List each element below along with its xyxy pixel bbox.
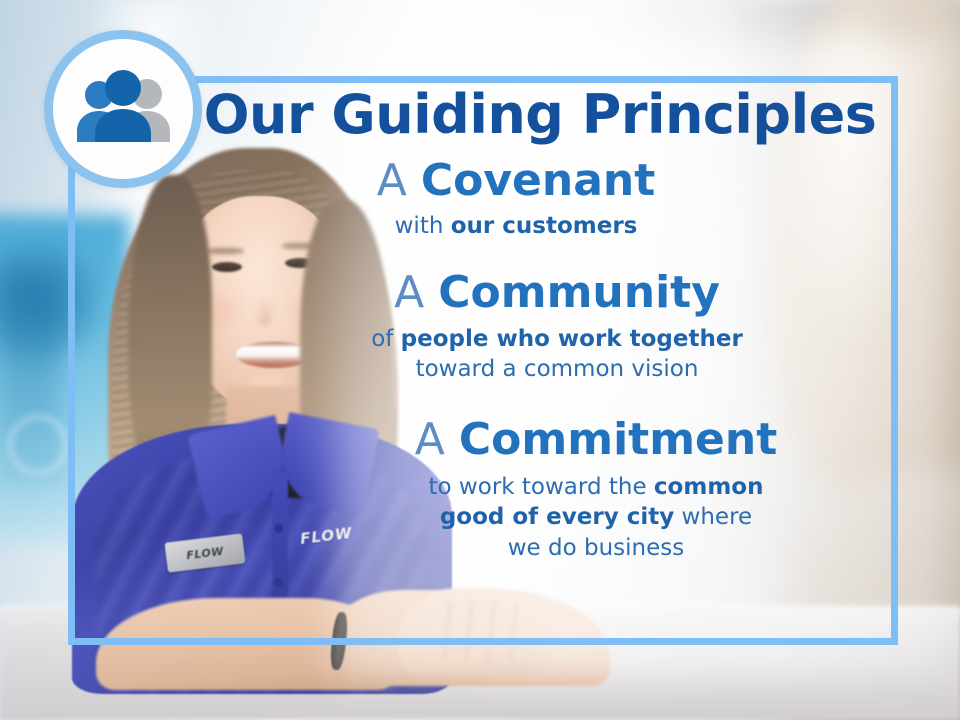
blurred-vehicle — [0, 240, 100, 360]
plain-text: toward a common vision — [416, 356, 699, 382]
principle-subtext-line: with our customers — [200, 211, 832, 241]
people-group-badge — [44, 30, 202, 188]
principle-subtext: to work toward the commongood of every c… — [312, 472, 880, 563]
principle-heading: A Commitment — [312, 415, 880, 464]
principle-subtext-line: toward a common vision — [234, 354, 880, 384]
principle-subtext-line: we do business — [312, 533, 880, 563]
principle-commitment: A Commitment to work toward the commongo… — [200, 415, 880, 563]
principle-article: A — [377, 155, 407, 206]
principle-subtext-line: of people who work together — [234, 324, 880, 354]
employee-shirt-button — [274, 578, 283, 587]
principle-subtext-line: to work toward the common — [312, 472, 880, 502]
emphasis-text: people who work together — [401, 326, 743, 352]
plain-text: to work toward the — [429, 474, 654, 500]
plain-text: we do business — [508, 535, 685, 561]
emphasis-text: good of every city — [440, 504, 674, 530]
employee-fingers — [430, 600, 530, 662]
blurred-brand-logo — [8, 415, 68, 475]
principle-covenant: A Covenant with our customers — [200, 156, 880, 242]
principle-community: A Community of people who work togethert… — [200, 268, 880, 385]
principle-keyword: Commitment — [459, 414, 777, 465]
principle-heading: A Community — [234, 268, 880, 317]
emphasis-text: common — [654, 474, 764, 500]
principle-keyword: Covenant — [421, 155, 655, 206]
people-group-icon — [71, 70, 175, 148]
plain-text: with — [395, 213, 451, 239]
principle-subtext: of people who work togethertoward a comm… — [234, 324, 880, 385]
principle-subtext-line: good of every city where — [312, 502, 880, 532]
principle-subtext: with our customers — [200, 211, 832, 241]
poster-canvas: FLOW FLOW Our Guid — [0, 0, 960, 720]
principle-heading: A Covenant — [200, 156, 832, 205]
emphasis-text: our customers — [451, 213, 638, 239]
page-title: Our Guiding Principles — [200, 88, 880, 142]
plain-text: of — [371, 326, 400, 352]
principle-article: A — [415, 414, 445, 465]
plain-text: where — [674, 504, 752, 530]
content-column: Our Guiding Principles A Covenant with o… — [200, 88, 880, 567]
principle-article: A — [394, 267, 424, 318]
principle-keyword: Community — [438, 267, 720, 318]
